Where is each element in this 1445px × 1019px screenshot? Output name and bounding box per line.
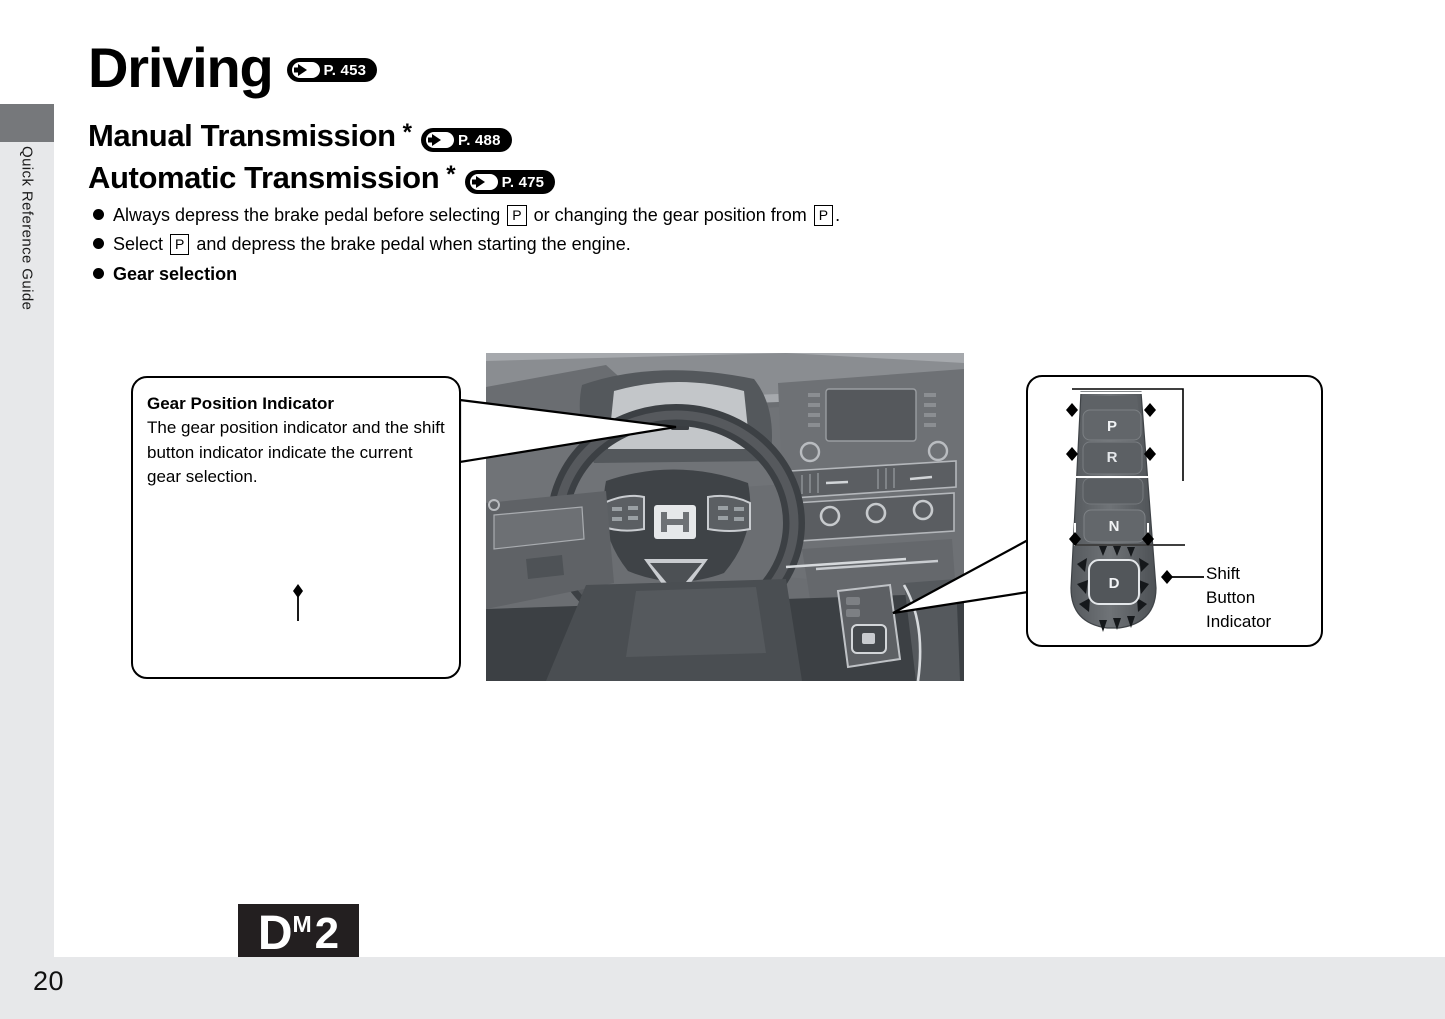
- bullet-2-part1: Gear selection: [113, 262, 237, 286]
- automatic-asterisk: *: [446, 163, 455, 187]
- page-ref-badge-automatic-label: P. 475: [502, 174, 545, 191]
- shift-button-selector-illustration: P R N: [1061, 388, 1166, 633]
- page-ref-badge-manual[interactable]: P. 488: [421, 128, 512, 152]
- bullet-0-part1: Always depress the brake pedal before se…: [113, 205, 500, 225]
- sbi-caption-line-1: Shift: [1206, 562, 1271, 586]
- bullet-0-part2: or changing the gear position from: [534, 205, 807, 225]
- car-interior-photo: [486, 353, 964, 681]
- shift-button-label-n: N: [1109, 518, 1120, 535]
- shift-button-label-d: D: [1109, 575, 1120, 592]
- shift-button-label-r: R: [1107, 449, 1118, 466]
- gear-chip-p: P: [814, 205, 833, 226]
- bullet-0-part3: .: [835, 205, 840, 225]
- section-heading-automatic-label: Automatic Transmission: [88, 162, 439, 195]
- callout-left-title: Gear Position Indicator: [147, 394, 334, 414]
- page-ref-badge-automatic[interactable]: P. 475: [465, 170, 556, 194]
- gear-chip-p: P: [170, 234, 189, 255]
- bullet-dot-icon: [93, 238, 104, 249]
- page-title-text: Driving: [88, 40, 273, 96]
- sidebar-tab-label-wrap: Quick Reference Guide: [0, 142, 54, 472]
- page-number: 20: [33, 966, 64, 997]
- bullet-1-part2: and depress the brake pedal when startin…: [196, 234, 630, 254]
- arrow-right-icon: [426, 132, 454, 148]
- manual-asterisk: *: [403, 121, 412, 145]
- arrow-right-icon: [470, 174, 498, 190]
- bullet-dot-icon: [93, 209, 104, 220]
- arrow-right-icon: [292, 62, 320, 78]
- list-item: Select P and depress the brake pedal whe…: [93, 232, 1093, 256]
- gear-number-2: 2: [315, 912, 339, 956]
- bullet-1-part1: Select: [113, 234, 163, 254]
- footer-band: [0, 957, 1445, 1019]
- list-item-text: Always depress the brake pedal before se…: [113, 203, 840, 227]
- bullet-list: Always depress the brake pedal before se…: [93, 203, 1093, 291]
- callout-gear-position-indicator: Gear Position Indicator The gear positio…: [131, 376, 461, 679]
- sbi-caption-line-2: Button: [1206, 586, 1271, 610]
- list-item: Always depress the brake pedal before se…: [93, 203, 1093, 227]
- section-heading-manual-transmission: Manual Transmission * P. 488: [88, 120, 512, 153]
- page-ref-badge-driving[interactable]: P. 453: [287, 58, 378, 82]
- page-ref-badge-manual-label: P. 488: [458, 132, 501, 149]
- gear-letter-d: D: [258, 910, 292, 958]
- section-heading-manual-label: Manual Transmission: [88, 120, 396, 153]
- page-ref-badge-driving-label: P. 453: [324, 62, 367, 79]
- manual-page: Quick Reference Guide Driving P. 453 Man…: [0, 0, 1445, 1019]
- section-heading-automatic-transmission: Automatic Transmission * P. 475: [88, 162, 555, 195]
- page-title: Driving P. 453: [88, 40, 377, 96]
- list-item-text: Select P and depress the brake pedal whe…: [113, 232, 631, 256]
- gear-letter-m: M: [293, 913, 312, 936]
- bullet-dot-icon: [93, 268, 104, 279]
- shift-button-indicator-caption: Shift Button Indicator: [1206, 562, 1271, 634]
- sidebar-tab-label: Quick Reference Guide: [19, 146, 36, 310]
- shift-button-label-p: P: [1107, 418, 1117, 435]
- sbi-caption-line-3: Indicator: [1206, 610, 1271, 634]
- list-item: Gear selection: [93, 262, 1093, 286]
- gear-chip-p: P: [507, 205, 526, 226]
- callout-left-body: The gear position indicator and the shif…: [147, 416, 447, 490]
- callout-shift-button-indicator: P R N: [1026, 375, 1323, 647]
- gear-position-indicator-display: D M 2: [238, 904, 359, 962]
- sidebar-tab-marker: [0, 104, 54, 142]
